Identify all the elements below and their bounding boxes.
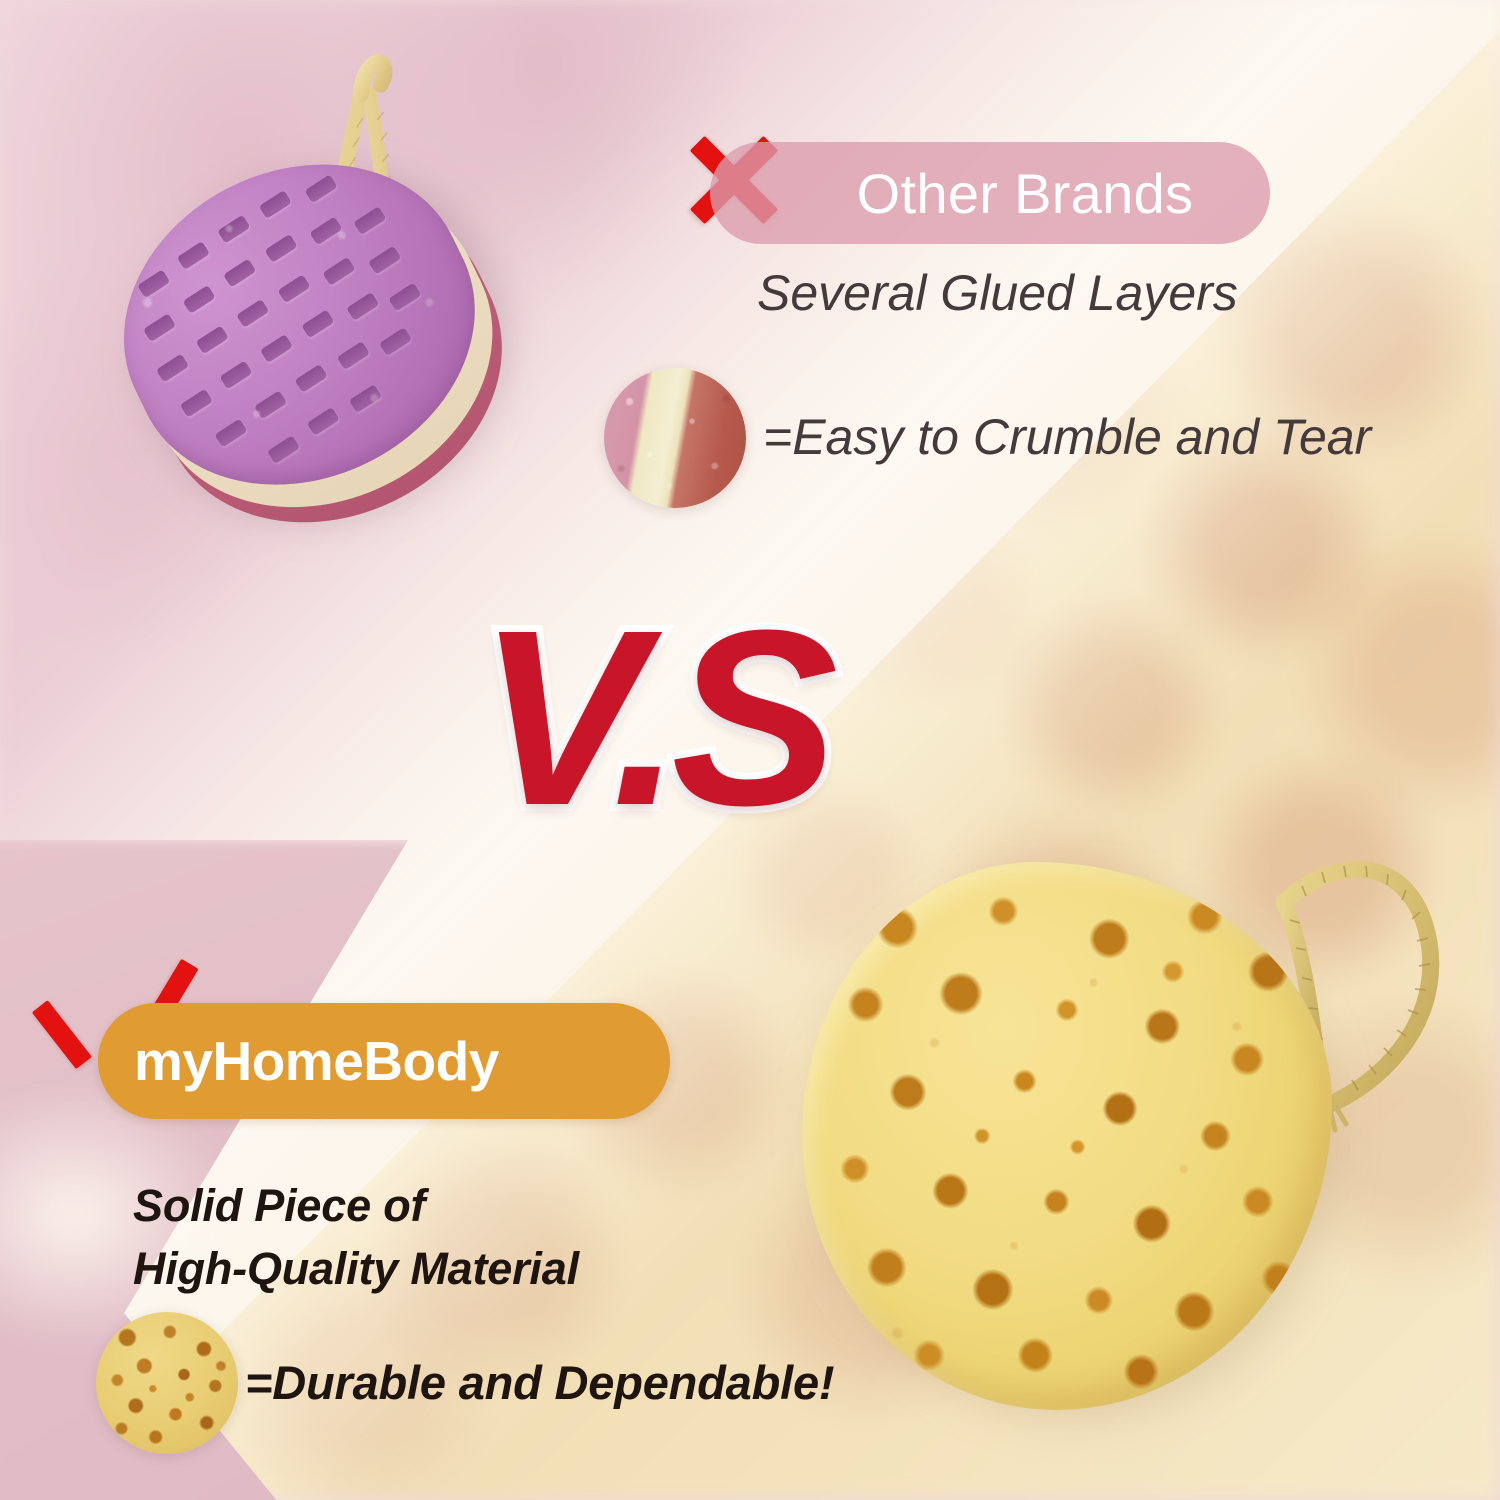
yellow-sea-sponge-image: [780, 830, 1440, 1470]
brand-subtitle-line2: High-Quality Material: [133, 1243, 579, 1295]
infographic-canvas: Other Brands Several Glued Layers =Easy …: [0, 0, 1500, 1500]
layered-cross-section-swatch: [604, 368, 746, 508]
other-brands-result-text: =Easy to Crumble and Tear: [763, 408, 1371, 466]
other-brands-label: Other Brands: [787, 161, 1194, 226]
brand-result-text: =Durable and Dependable!: [245, 1355, 834, 1410]
yellow-sponge-fine-texture: [802, 862, 1332, 1410]
porous-swatch-texture: [96, 1312, 238, 1454]
layered-swatch-grain: [604, 368, 746, 508]
other-brands-subtitle: Several Glued Layers: [757, 264, 1238, 322]
versus-label: V.S: [478, 578, 828, 857]
brand-badge[interactable]: myHomeBody: [98, 1003, 670, 1119]
brand-subtitle-line1: Solid Piece of: [133, 1180, 425, 1232]
brand-label: myHomeBody: [98, 1029, 499, 1093]
other-brands-badge[interactable]: Other Brands: [710, 142, 1270, 244]
versus-logo: V.S: [478, 598, 1018, 838]
yellow-sponge-body: [802, 862, 1332, 1410]
porous-uniform-swatch: [96, 1312, 238, 1454]
